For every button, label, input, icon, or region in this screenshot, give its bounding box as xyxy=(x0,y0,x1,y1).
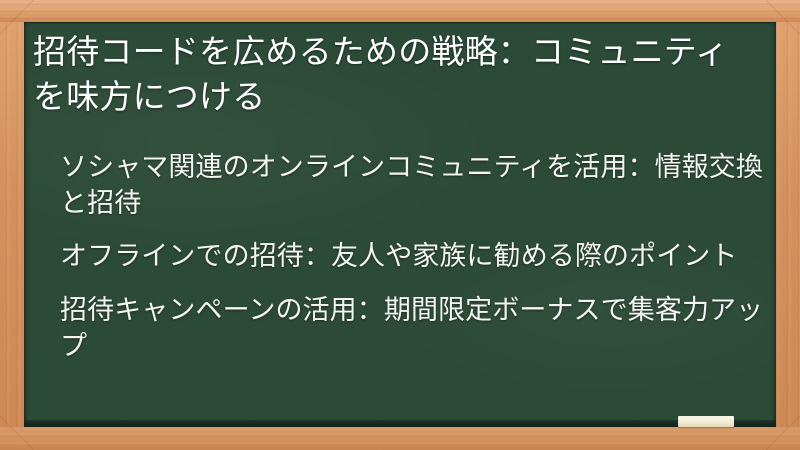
chalkboard-slide: 招待コードを広めるための戦略：コミュニティを味方につける ソシャマ関連のオンライ… xyxy=(0,0,800,450)
bullet-list: ソシャマ関連のオンラインコミュニティを活用：情報交換と招待 オフラインでの招待：… xyxy=(60,150,766,364)
wooden-frame-top-rail xyxy=(0,0,800,22)
chalk-stick-icon xyxy=(678,416,734,427)
wooden-frame-bottom-ledge xyxy=(0,427,800,450)
slide-title: 招待コードを広めるための戦略：コミュニティを味方につける xyxy=(33,30,757,120)
bullet-item: 招待キャンペーンの活用：期間限定ボーナスで集客力アップ xyxy=(60,293,766,364)
bullet-item: ソシャマ関連のオンラインコミュニティを活用：情報交換と招待 xyxy=(60,150,766,221)
bullet-item: オフラインでの招待：友人や家族に勧める際のポイント xyxy=(60,239,766,275)
slide-content: 招待コードを広めるための戦略：コミュニティを味方につける ソシャマ関連のオンライ… xyxy=(24,22,776,427)
